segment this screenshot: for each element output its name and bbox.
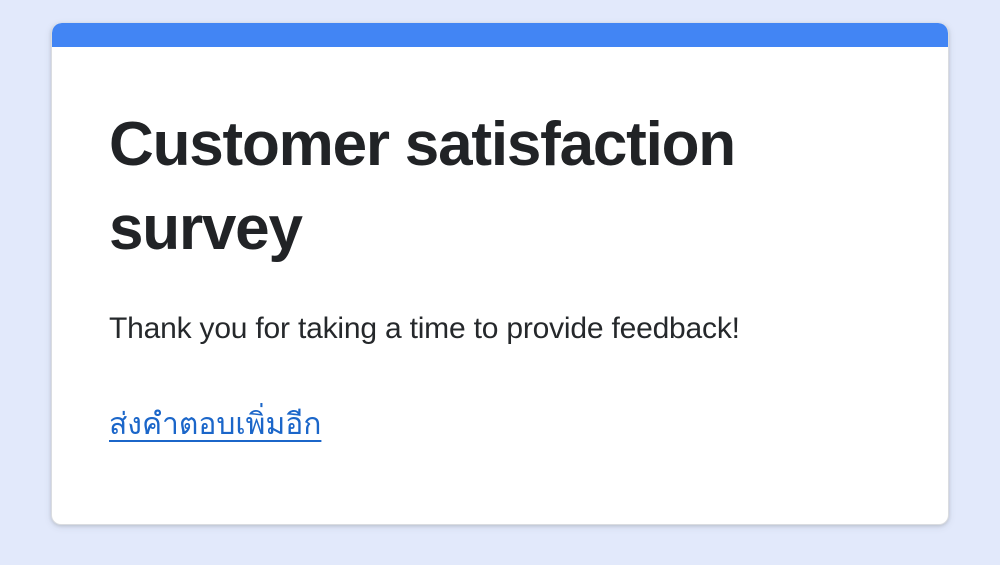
card-accent-bar [52,23,948,47]
page-title: Customer satisfaction survey [109,103,869,271]
form-confirmation-card: Customer satisfaction survey Thank you f… [51,23,949,525]
confirmation-message: Thank you for taking a time to provide f… [109,309,892,349]
page-background: Customer satisfaction survey Thank you f… [0,0,1000,565]
card-body: Customer satisfaction survey Thank you f… [52,47,948,524]
submit-another-response-link[interactable]: ส่งคำตอบเพิ่มอีก [109,405,321,445]
